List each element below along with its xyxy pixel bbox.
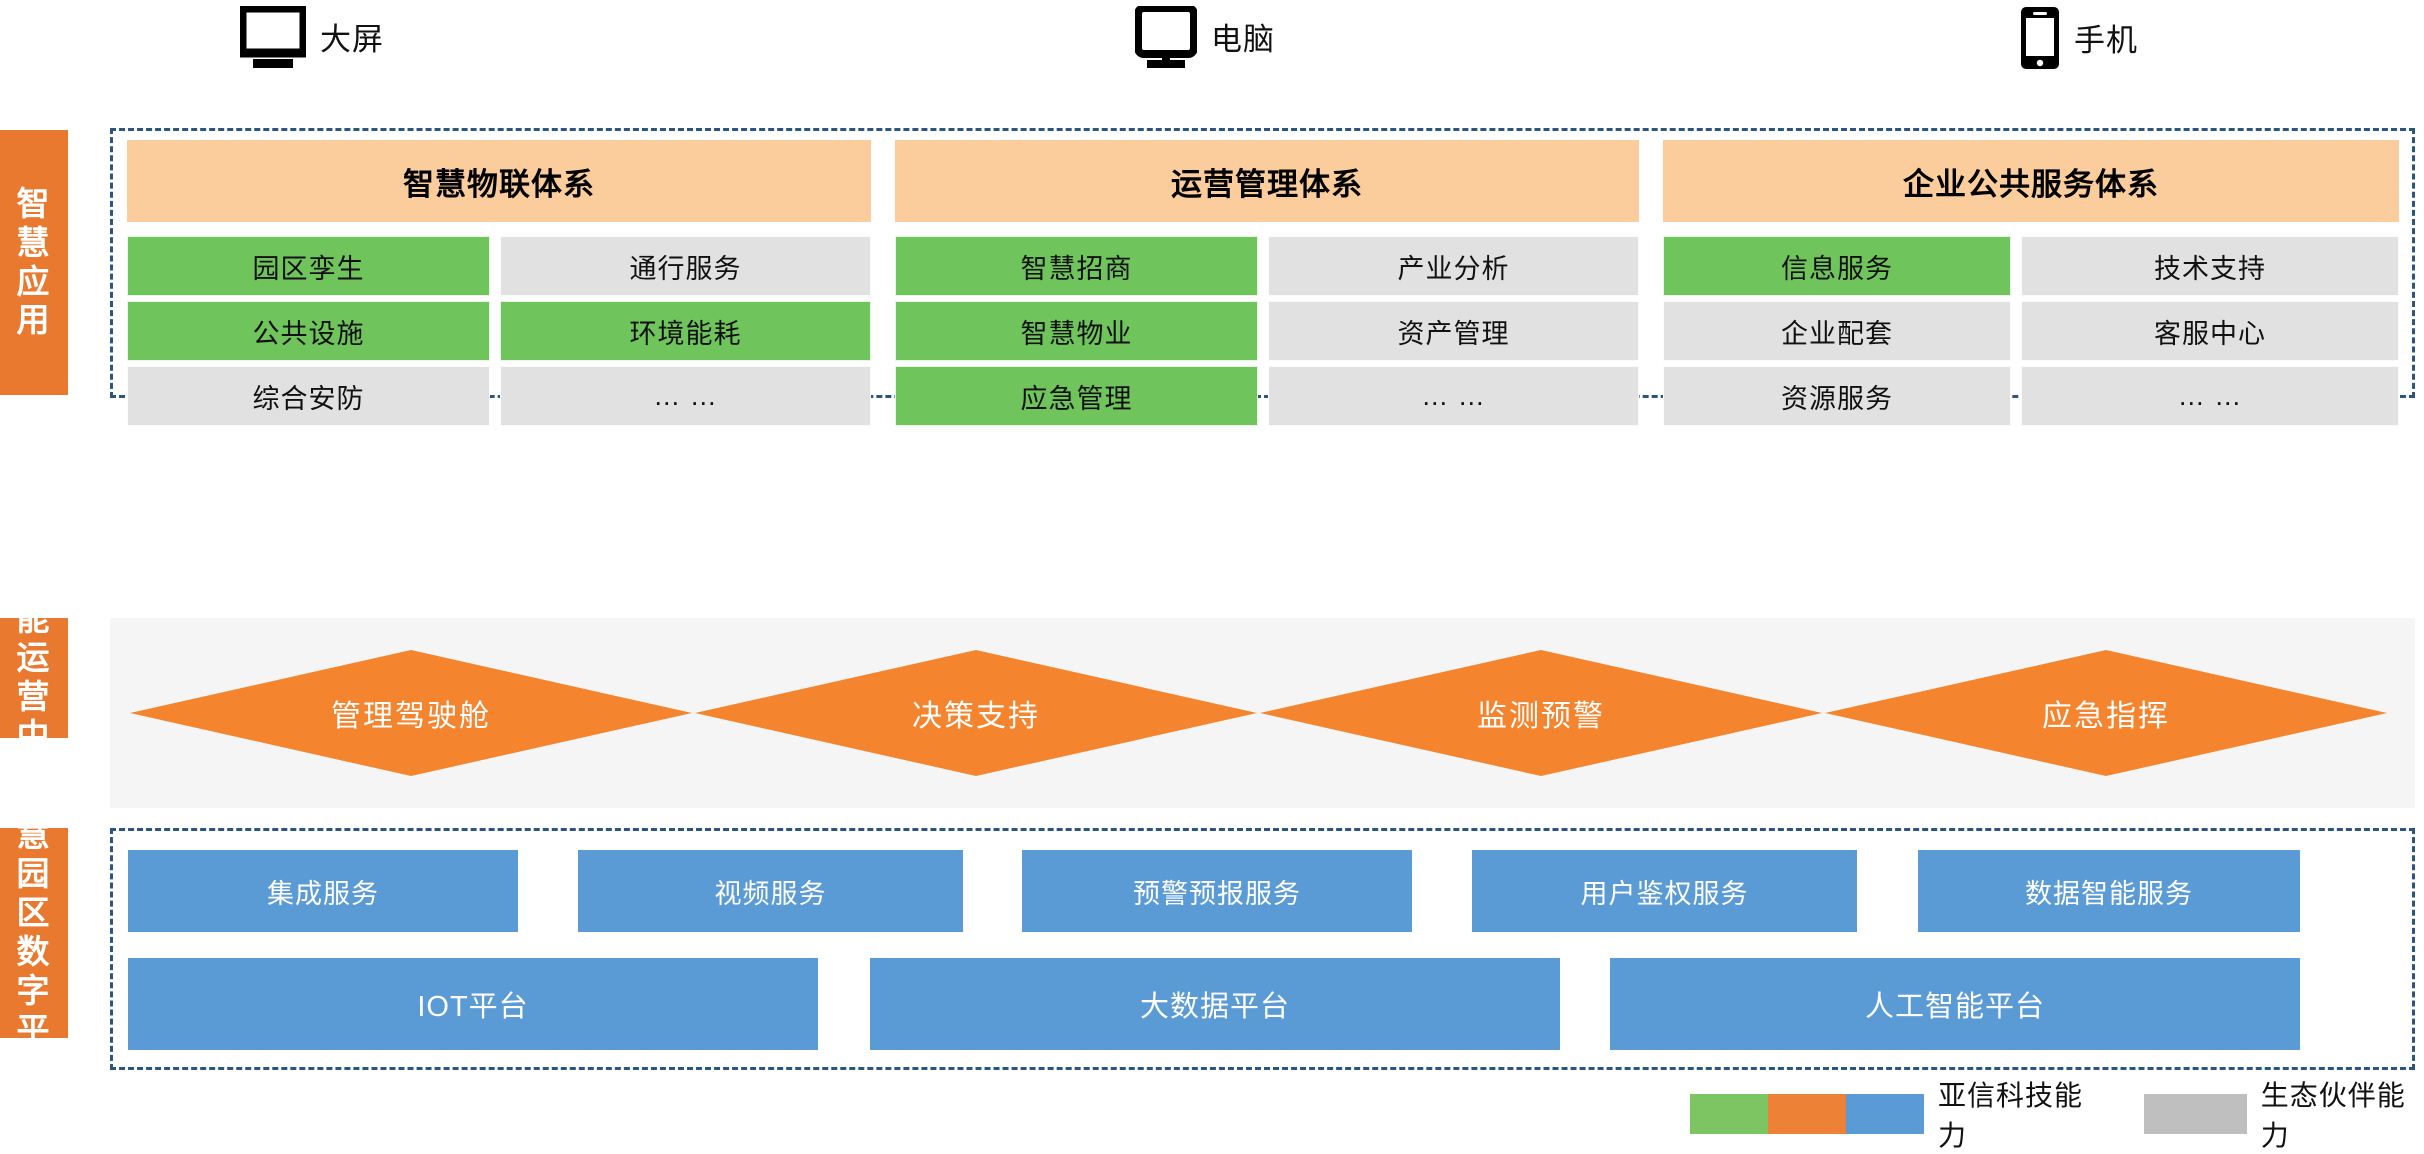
device-phone[interactable]: 手机 [2020,6,2138,75]
app-cell-more-operation[interactable]: … … [1268,366,1639,426]
device-computer[interactable]: 电脑 [1135,6,1275,73]
operation-center-panel: 管理驾驶舱 决策支持 监测预警 应急指挥 [110,618,2415,808]
application-layer-grid: 智慧物联体系 园区孪生 通行服务 公共设施 环境能耗 综合安防 … … 运营管理… [110,128,2415,398]
legend-swatch-green [1690,1094,1768,1134]
operation-center-item-emergency-command-label: 应急指挥 [2042,691,2170,735]
app-cell-public-facility[interactable]: 公共设施 [127,301,490,361]
platform-bigdata[interactable]: 大数据平台 [870,958,1560,1050]
operation-center-item-emergency-command[interactable]: 应急指挥 [1825,618,2387,808]
app-cell-smart-property[interactable]: 智慧物业 [895,301,1258,361]
app-cell-environment-energy[interactable]: 环境能耗 [500,301,871,361]
application-column-enterprise-service: 企业公共服务体系 信息服务 技术支持 企业配套 客服中心 资源服务 … … [1663,128,2399,398]
legend-swatch-gray [2144,1094,2247,1134]
mobile-phone-icon [2020,6,2060,75]
legend-swatch-orange [1768,1094,1846,1134]
application-column-iot-title: 智慧物联体系 [127,140,871,222]
application-column-iot: 智慧物联体系 园区孪生 通行服务 公共设施 环境能耗 综合安防 … … [127,128,871,398]
platform-service-alert-forecast[interactable]: 预警预报服务 [1022,850,1412,932]
legend: 亚信科技能力 生态伙伴能力 [1690,1094,2424,1134]
platform-ai[interactable]: 人工智能平台 [1610,958,2300,1050]
app-cell-smart-investment[interactable]: 智慧招商 [895,236,1258,296]
operation-center-item-monitoring-alert[interactable]: 监测预警 [1260,618,1822,808]
device-phone-label: 手机 [2074,25,2138,56]
diamond-shape: 决策支持 [695,650,1257,776]
legend-item-partner: 生态伙伴能力 [2144,1074,2424,1154]
application-column-operation: 运营管理体系 智慧招商 产业分析 智慧物业 资产管理 应急管理 … … [895,128,1639,398]
app-cell-information-service[interactable]: 信息服务 [1663,236,2011,296]
sidebar-layer-smart-application[interactable]: 智 慧 应 用 [0,130,68,395]
sidebar-layer-operation-center[interactable]: 智能 运营 中心 [0,618,68,738]
device-computer-label: 电脑 [1211,24,1275,55]
platform-service-video[interactable]: 视频服务 [578,850,963,932]
sidebar-layer-smart-application-label: 智 慧 应 用 [17,185,52,341]
app-cell-resource-service[interactable]: 资源服务 [1663,366,2011,426]
device-big-screen[interactable]: 大屏 [240,6,384,73]
app-cell-technical-support[interactable]: 技术支持 [2021,236,2399,296]
diamond-shape: 监测预警 [1260,650,1822,776]
platform-layer-grid: 集成服务 视频服务 预警预报服务 用户鉴权服务 数据智能服务 IOT平台 大数据… [110,828,2415,1070]
operation-center-item-decision-support[interactable]: 决策支持 [695,618,1257,808]
legend-swatch-blue [1846,1094,1924,1134]
sidebar-layer-digital-platform[interactable]: 智慧 园区 数字 平台 [0,828,68,1038]
operation-center-item-management-cockpit-label: 管理驾驶舱 [331,691,491,735]
operation-center-item-decision-support-label: 决策支持 [912,691,1040,735]
app-cell-more-iot[interactable]: … … [500,366,871,426]
app-cell-asset-management[interactable]: 资产管理 [1268,301,1639,361]
app-cell-industry-analysis[interactable]: 产业分析 [1268,236,1639,296]
application-column-enterprise-service-title: 企业公共服务体系 [1663,140,2399,222]
platform-service-data-intelligence[interactable]: 数据智能服务 [1918,850,2300,932]
desktop-computer-icon [1135,6,1197,73]
device-channel-row: 大屏 电脑 手机 [0,0,2424,78]
diamond-shape: 应急指挥 [1825,650,2387,776]
legend-vendor-label: 亚信科技能力 [1938,1074,2087,1154]
big-screen-icon [240,6,306,73]
operation-center-item-management-cockpit[interactable]: 管理驾驶舱 [130,618,692,808]
app-cell-enterprise-support[interactable]: 企业配套 [1663,301,2011,361]
app-cell-customer-center[interactable]: 客服中心 [2021,301,2399,361]
platform-service-integration[interactable]: 集成服务 [128,850,518,932]
app-cell-emergency-management[interactable]: 应急管理 [895,366,1258,426]
app-cell-access-service[interactable]: 通行服务 [500,236,871,296]
app-cell-more-enterprise[interactable]: … … [2021,366,2399,426]
app-cell-integrated-security[interactable]: 综合安防 [127,366,490,426]
device-big-screen-label: 大屏 [320,24,384,55]
legend-partner-label: 生态伙伴能力 [2261,1074,2424,1154]
operation-center-item-monitoring-alert-label: 监测预警 [1477,691,1605,735]
sidebar-layer-operation-center-label: 智能 运营 中心 [0,561,68,795]
platform-iot[interactable]: IOT平台 [128,958,818,1050]
legend-item-vendor: 亚信科技能力 [1690,1074,2087,1154]
platform-service-user-auth[interactable]: 用户鉴权服务 [1472,850,1857,932]
diamond-shape: 管理驾驶舱 [130,650,692,776]
sidebar-layer-digital-platform-label: 智慧 园区 数字 平台 [0,777,68,1089]
app-cell-park-twin[interactable]: 园区孪生 [127,236,490,296]
legend-swatch-vendor [1690,1094,1924,1134]
application-column-operation-title: 运营管理体系 [895,140,1639,222]
